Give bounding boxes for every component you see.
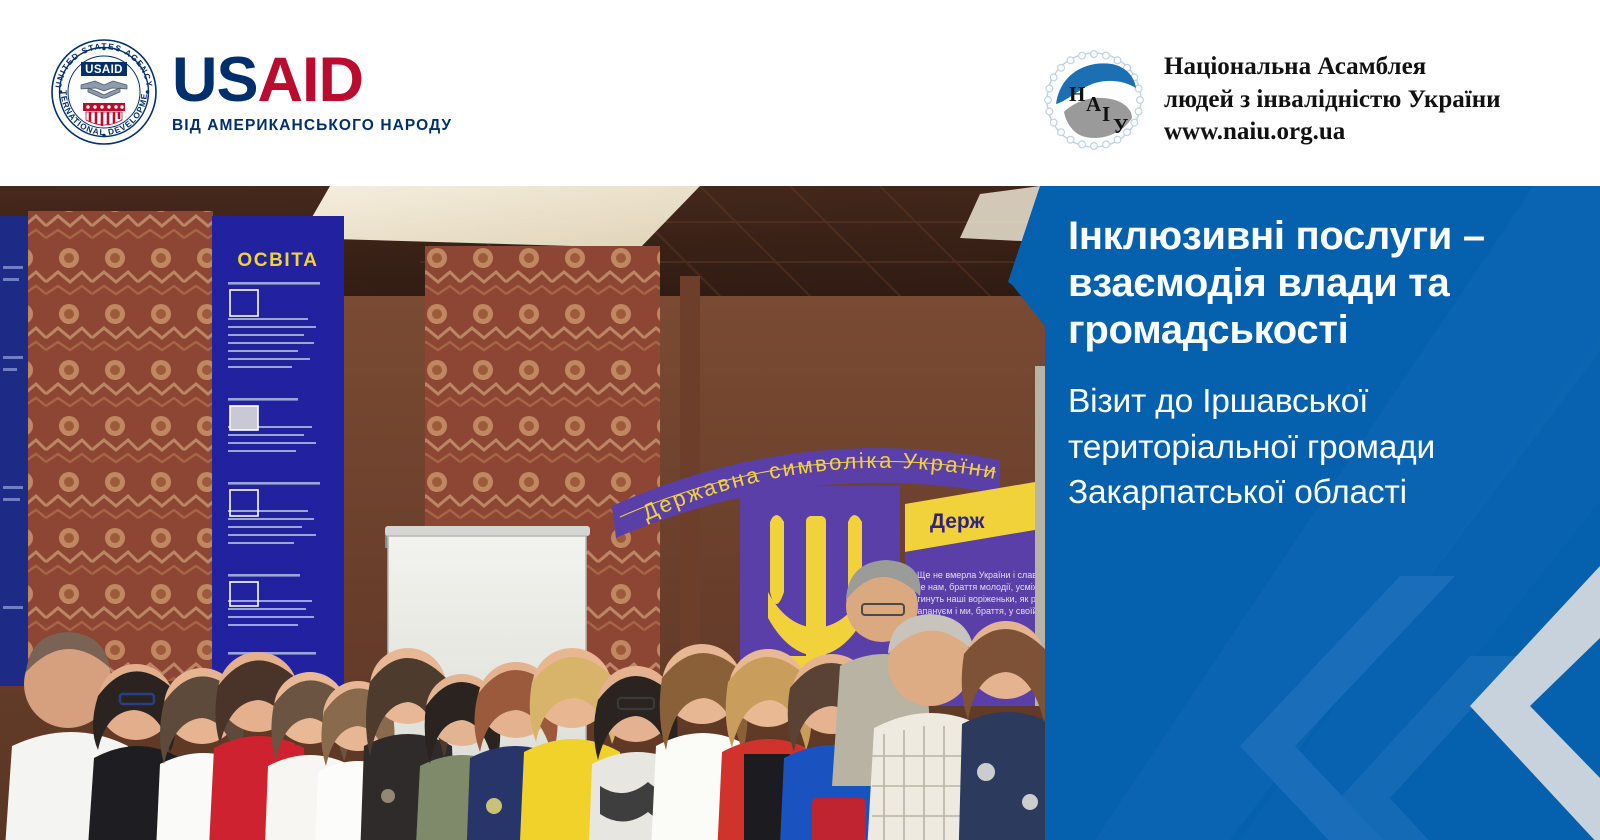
promo-banner: UNITED STATES AGENCY INTERNATIONAL DEVEL… (0, 0, 1600, 840)
header-bar: UNITED STATES AGENCY INTERNATIONAL DEVEL… (0, 0, 1600, 186)
svg-text:Н: Н (1069, 82, 1085, 106)
svg-text:У: У (1113, 114, 1128, 138)
svg-text:І: І (1102, 102, 1110, 126)
panel-text-block: Інклюзивні послуги – взаємодія влади та … (1068, 213, 1588, 516)
usaid-wordmark: USAID (172, 51, 363, 111)
usaid-tagline: ВІД АМЕРИКАНСЬКОГО НАРОДУ (172, 118, 452, 134)
naiu-title-line-1: Національна Асамблея (1164, 52, 1501, 83)
usaid-seal-icon: UNITED STATES AGENCY INTERNATIONAL DEVEL… (50, 38, 158, 146)
panel-title: Інклюзивні послуги – взаємодія влади та … (1068, 213, 1588, 353)
usaid-wordmark-us: US (172, 45, 258, 115)
usaid-logo: UNITED STATES AGENCY INTERNATIONAL DEVEL… (50, 38, 452, 146)
svg-text:USAID: USAID (85, 64, 123, 76)
svg-text:ОСВІТА: ОСВІТА (237, 250, 318, 271)
naiu-website-url: www.naiu.org.ua (1164, 117, 1501, 148)
svg-text:Держ: Держ (930, 510, 985, 533)
svg-text:А: А (1086, 92, 1102, 116)
naiu-logo: Н А І У Національна Асамблея людей з інв… (1042, 48, 1501, 152)
naiu-circular-logo-icon: Н А І У (1042, 48, 1146, 152)
naiu-title-line-2: людей з інвалідністю України (1164, 85, 1501, 116)
panel-subtitle: Візит до Іршавської територіальної грома… (1068, 379, 1588, 516)
usaid-wordmark-aid: AID (258, 45, 364, 115)
